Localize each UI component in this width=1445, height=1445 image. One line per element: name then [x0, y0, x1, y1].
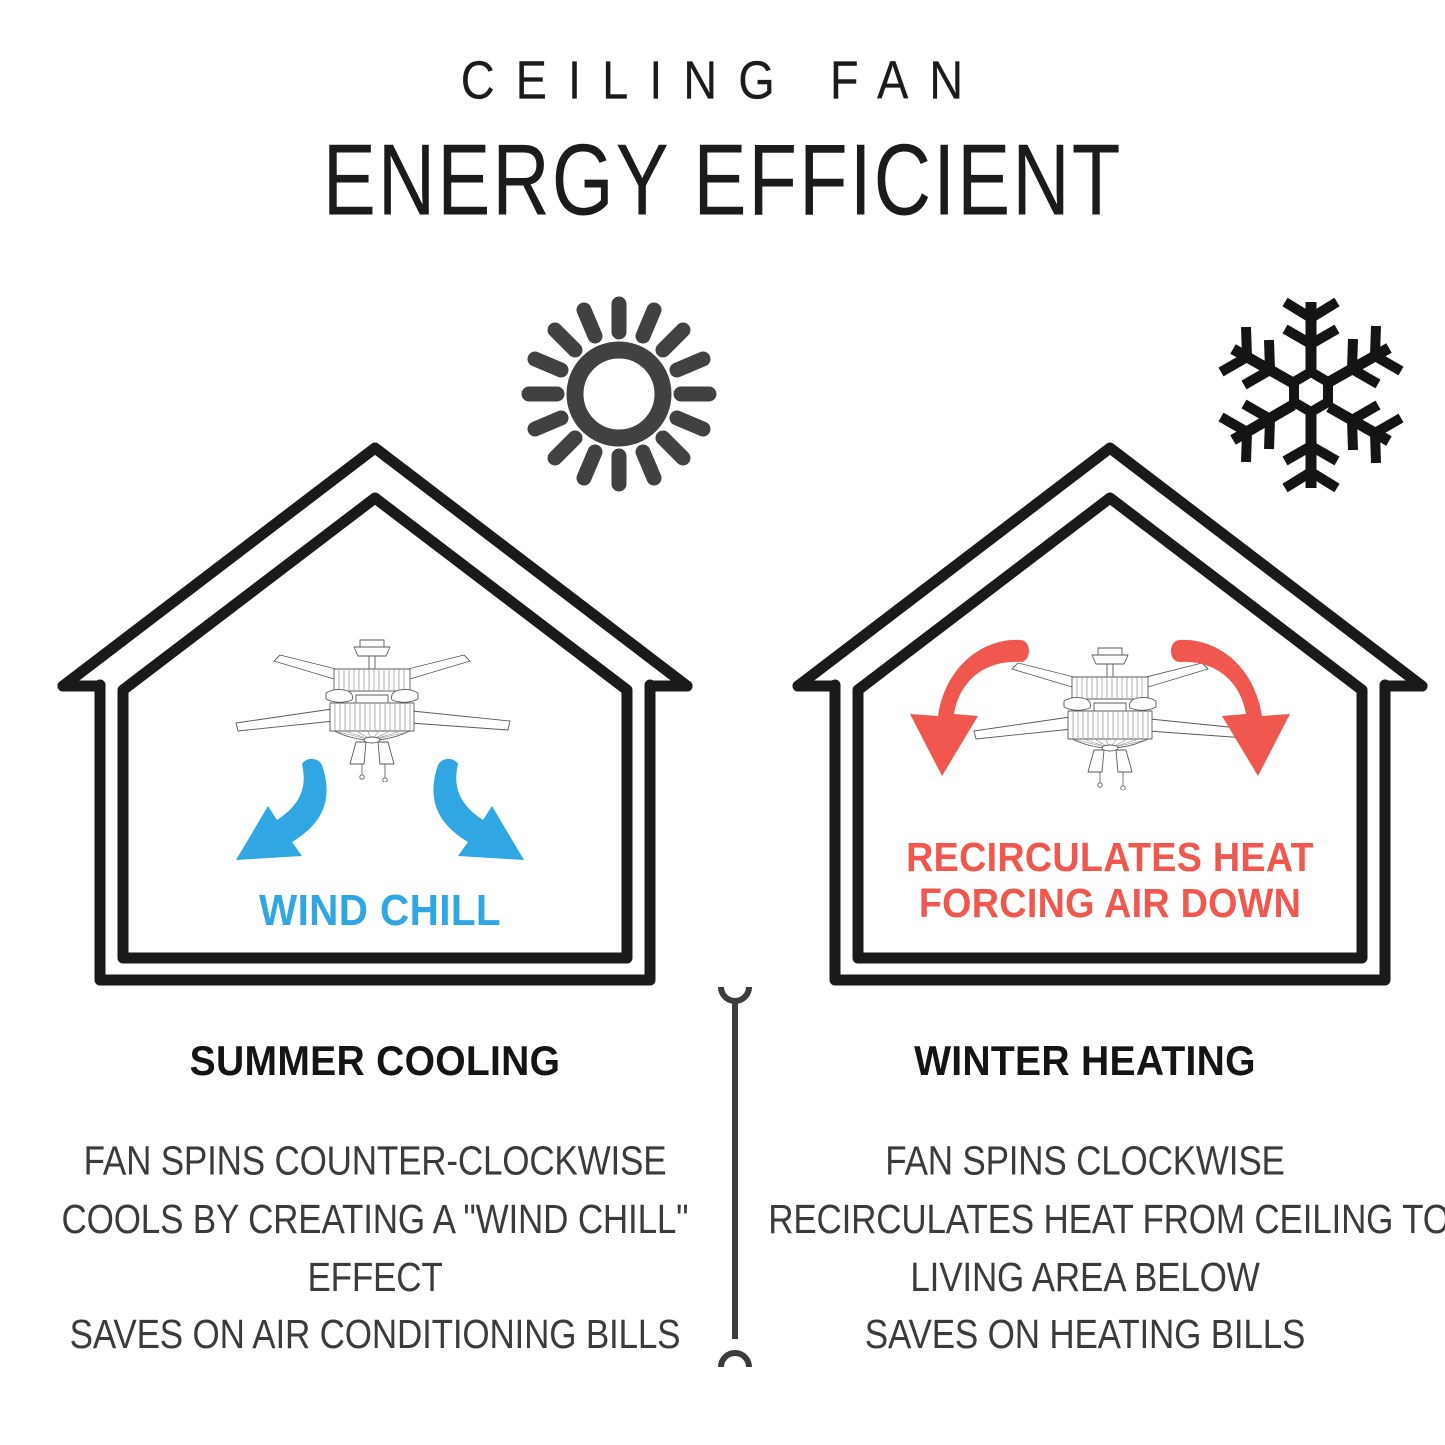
column-summer: SUMMER COOLING FAN SPINS COUNTER-CLOCKWI… — [45, 1038, 705, 1340]
recirculates-heat-line2: FORCING AIR DOWN — [880, 881, 1340, 927]
ceiling-fan-winter — [960, 645, 1260, 790]
kicker-text: CEILING FAN — [0, 52, 1445, 108]
summer-body-line-3: EFFECT — [58, 1248, 692, 1306]
winter-body-line-2: RECIRCULATES HEAT FROM CEILING TO — [768, 1190, 1402, 1248]
summer-body-line-1: FAN SPINS COUNTER-CLOCKWISE — [58, 1132, 692, 1190]
page-title: ENERGY EFFICIENT — [29, 129, 1416, 230]
winter-body-line-4: SAVES ON HEATING BILLS — [768, 1306, 1402, 1364]
infographic-page: CEILING FAN ENERGY EFFICIENT — [0, 0, 1445, 1445]
summer-title: SUMMER COOLING — [68, 1038, 682, 1084]
winter-body-line-3: LIVING AREA BELOW — [768, 1248, 1402, 1306]
recirculates-heat-line1: RECIRCULATES HEAT — [880, 835, 1340, 881]
summer-body-line-4: SAVES ON AIR CONDITIONING BILLS — [58, 1306, 692, 1364]
winter-body: FAN SPINS CLOCKWISE RECIRCULATES HEAT FR… — [768, 1132, 1402, 1364]
column-winter: WINTER HEATING FAN SPINS CLOCKWISE RECIR… — [755, 1038, 1415, 1340]
winter-body-line-1: FAN SPINS CLOCKWISE — [768, 1132, 1402, 1190]
wind-chill-label: WIND CHILL — [136, 886, 624, 935]
winter-title: WINTER HEATING — [778, 1038, 1392, 1084]
summer-body-line-2: COOLS BY CREATING A "WIND CHILL" — [58, 1190, 692, 1248]
ceiling-fan-summer — [222, 637, 522, 782]
header: CEILING FAN ENERGY EFFICIENT — [0, 52, 1445, 212]
summer-body: FAN SPINS COUNTER-CLOCKWISE COOLS BY CRE… — [58, 1132, 692, 1364]
recirculates-heat-label: RECIRCULATES HEAT FORCING AIR DOWN — [880, 835, 1340, 927]
